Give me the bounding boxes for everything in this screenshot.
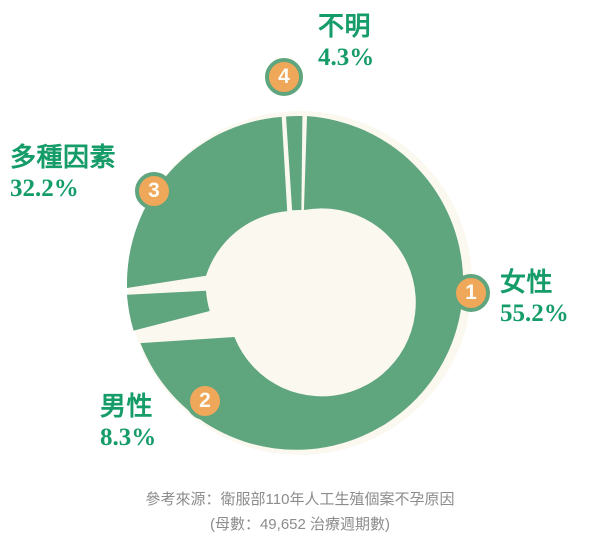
callout-label-female: 女性 55.2% <box>500 268 569 328</box>
slice-badge-male[interactable]: 2 <box>186 382 224 420</box>
callout-label-unknown: 不明 4.3% <box>318 12 374 72</box>
callout-percent-male: 8.3% <box>100 423 156 453</box>
slice-badge-multiple[interactable]: 3 <box>135 172 173 210</box>
footer-sample-line: (母數：49,652 治療週期數) <box>0 513 600 538</box>
callout-category-unknown: 不明 <box>318 12 374 43</box>
callout-category-male: 男性 <box>100 392 156 423</box>
chart-footer: 參考來源：衛服部110年人工生殖個案不孕原因 (母數：49,652 治療週期數) <box>0 488 600 538</box>
callout-percent-unknown: 4.3% <box>318 43 374 73</box>
callout-label-male: 男性 8.3% <box>100 392 156 452</box>
callout-category-multiple: 多種因素 <box>10 143 116 174</box>
slice-badge-female[interactable]: 1 <box>452 274 490 312</box>
callout-percent-female: 55.2% <box>500 299 569 329</box>
callout-label-multiple: 多種因素 32.2% <box>10 143 116 203</box>
callout-percent-multiple: 32.2% <box>10 174 116 204</box>
donut-chart: 不明 4.3% 多種因素 32.2% 女性 55.2% 男性 8.3% 4 3 … <box>0 0 600 558</box>
slice-badge-unknown[interactable]: 4 <box>265 58 303 96</box>
callout-category-female: 女性 <box>500 268 569 299</box>
footer-source-line: 參考來源：衛服部110年人工生殖個案不孕原因 <box>0 488 600 513</box>
